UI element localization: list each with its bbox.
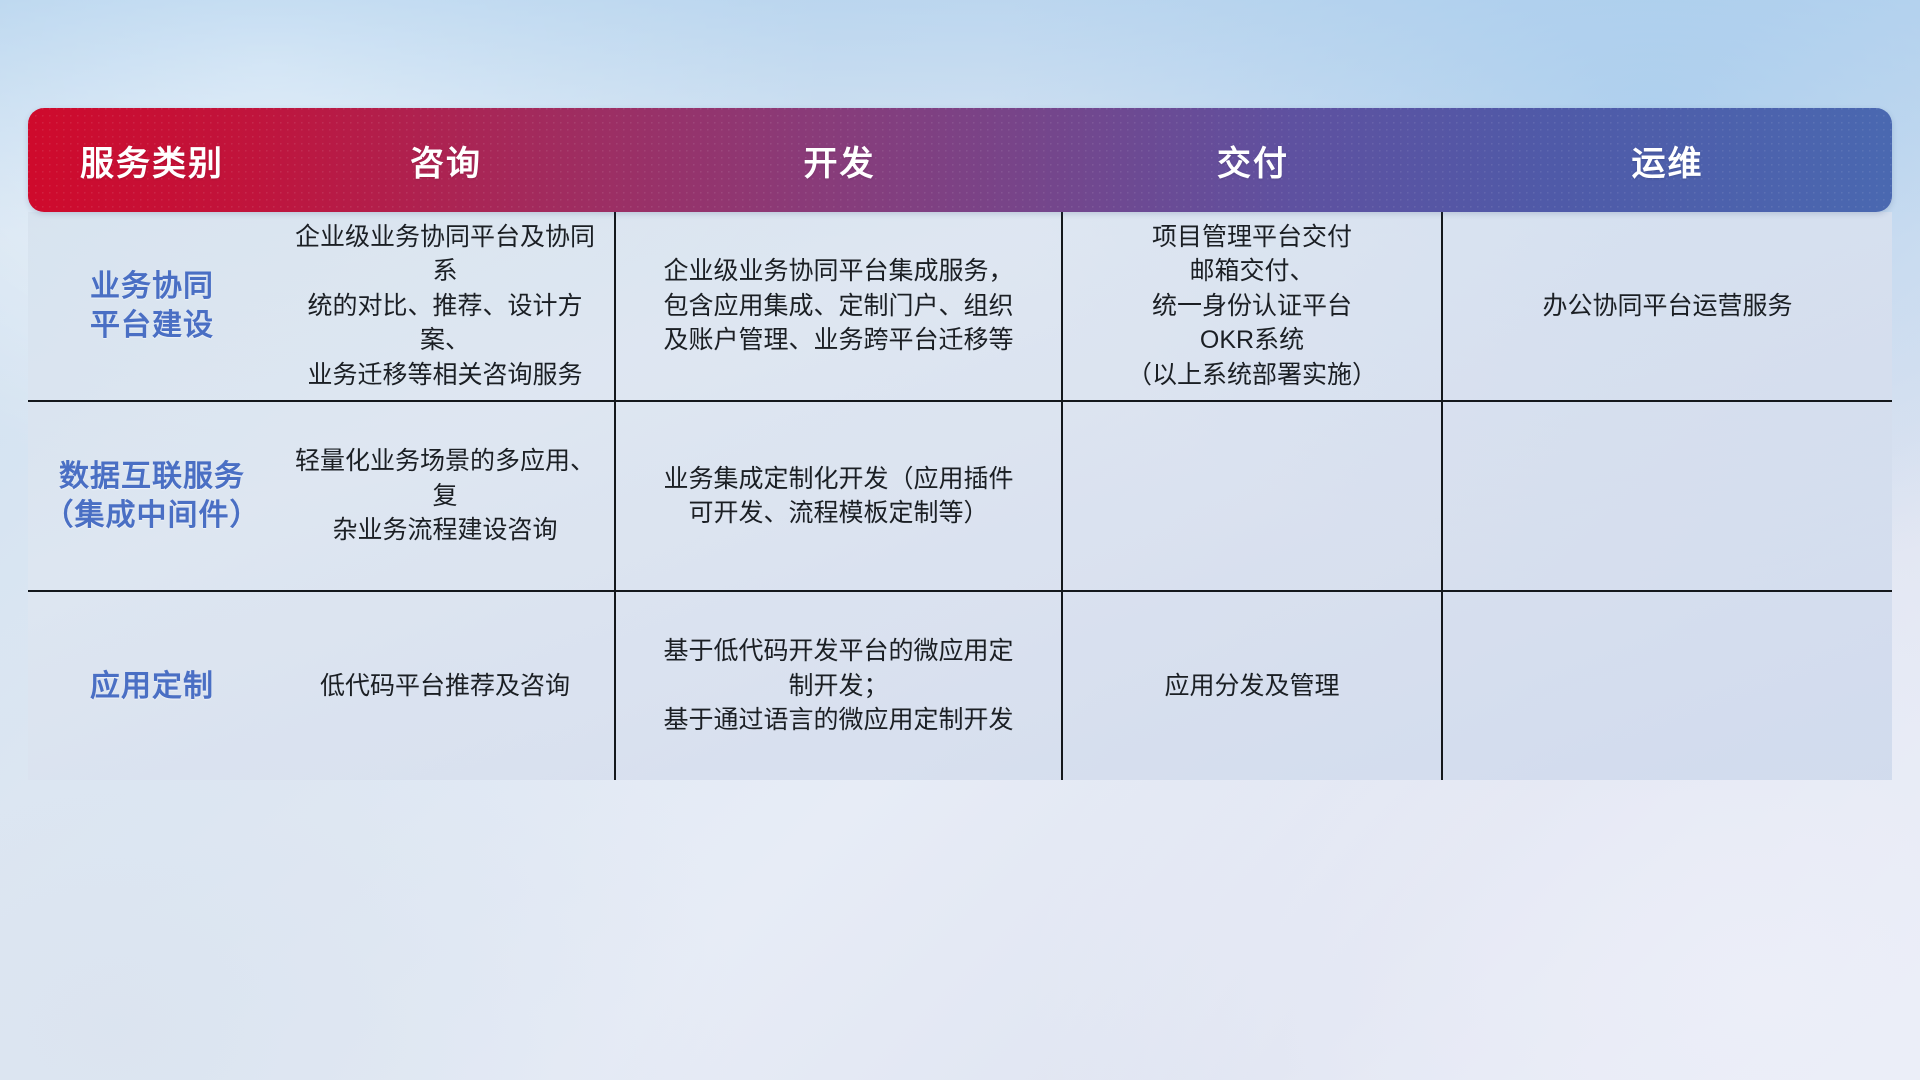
table-cell: 企业级业务协同平台及协同系 统的对比、推荐、设计方案、 业务迁移等相关咨询服务 — [276, 212, 616, 400]
table-header-row: 服务类别 咨询 开发 交付 运维 — [28, 108, 1892, 212]
table-row: 业务协同 平台建设 企业级业务协同平台及协同系 统的对比、推荐、设计方案、 业务… — [28, 212, 1892, 402]
table-cell: 低代码平台推荐及咨询 — [276, 592, 616, 780]
table-row: 数据互联服务 （集成中间件） 轻量化业务场景的多应用、复 杂业务流程建设咨询 业… — [28, 402, 1892, 592]
service-matrix-table-wrapper: 服务类别 咨询 开发 交付 运维 业务协同 平台建设 企业级业务协同平台及协同系… — [28, 108, 1892, 780]
table-cell: 办公协同平台运营服务 — [1443, 212, 1892, 400]
table-cell: 基于低代码开发平台的微应用定 制开发； 基于通过语言的微应用定制开发 — [616, 592, 1063, 780]
table-cell: 企业级业务协同平台集成服务， 包含应用集成、定制门户、组织 及账户管理、业务跨平… — [616, 212, 1063, 400]
table-cell — [1443, 592, 1892, 780]
table-cell: 项目管理平台交付 邮箱交付、 统一身份认证平台 OKR系统 （以上系统部署实施） — [1063, 212, 1443, 400]
service-matrix-table: 服务类别 咨询 开发 交付 运维 业务协同 平台建设 企业级业务协同平台及协同系… — [28, 108, 1892, 780]
column-header-delivery: 交付 — [1063, 136, 1443, 185]
column-header-consulting: 咨询 — [276, 136, 616, 185]
table-row: 应用定制 低代码平台推荐及咨询 基于低代码开发平台的微应用定 制开发； 基于通过… — [28, 592, 1892, 780]
column-header-service-category: 服务类别 — [28, 136, 276, 185]
table-body: 业务协同 平台建设 企业级业务协同平台及协同系 统的对比、推荐、设计方案、 业务… — [28, 212, 1892, 780]
row-label-data-interconnect: 数据互联服务 （集成中间件） — [28, 402, 276, 590]
table-cell: 应用分发及管理 — [1063, 592, 1443, 780]
table-cell — [1443, 402, 1892, 590]
column-header-development: 开发 — [616, 136, 1063, 185]
column-header-operations: 运维 — [1443, 136, 1892, 185]
table-cell: 轻量化业务场景的多应用、复 杂业务流程建设咨询 — [276, 402, 616, 590]
row-label-business-collaboration: 业务协同 平台建设 — [28, 212, 276, 400]
row-label-application-customization: 应用定制 — [28, 592, 276, 780]
table-cell — [1063, 402, 1443, 590]
table-cell: 业务集成定制化开发（应用插件 可开发、流程模板定制等） — [616, 402, 1063, 590]
